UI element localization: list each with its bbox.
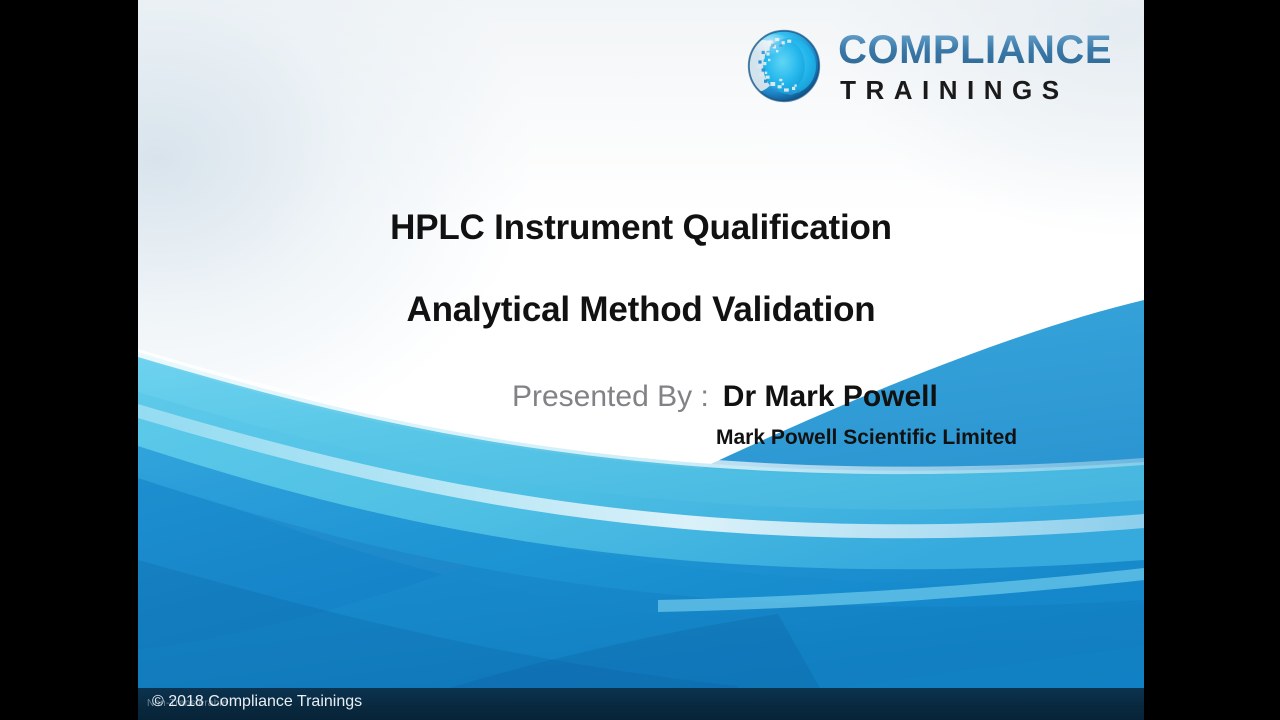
footer-copyright-text: © 2018 Compliance Trainings [152, 693, 362, 711]
compliance-trainings-logo: COMPLIANCE TRAININGS [744, 26, 1112, 106]
logo-wordmark: COMPLIANCE TRAININGS [838, 30, 1112, 103]
video-player: COMPLIANCE TRAININGS HPLC Instrument Qua… [0, 0, 1280, 720]
logo-text-trainings: TRAININGS [838, 77, 1112, 103]
slide-title-block: HPLC Instrument Qualification Analytical… [138, 208, 1144, 330]
presented-by-label: Presented By : [512, 380, 709, 414]
wave-decoration [138, 0, 1144, 720]
presenter-name: Dr Mark Powell [723, 380, 938, 414]
slide-footer-bar: Non-Transferable © 2018 Compliance Train… [138, 688, 1144, 720]
slide-title-line-1: HPLC Instrument Qualification [138, 208, 1144, 248]
logo-text-compliance: COMPLIANCE [838, 30, 1112, 70]
presentation-slide: COMPLIANCE TRAININGS HPLC Instrument Qua… [138, 0, 1144, 720]
presenter-line: Presented By : Dr Mark Powell [512, 380, 1144, 414]
letterbox-bar-right [1144, 0, 1280, 720]
presenter-block: Presented By : Dr Mark Powell Mark Powel… [138, 380, 1144, 450]
slide-title-line-2: Analytical Method Validation [138, 290, 1144, 330]
presenter-company: Mark Powell Scientific Limited [512, 426, 1144, 450]
globe-icon [744, 26, 824, 106]
letterbox-bar-left [0, 0, 138, 720]
